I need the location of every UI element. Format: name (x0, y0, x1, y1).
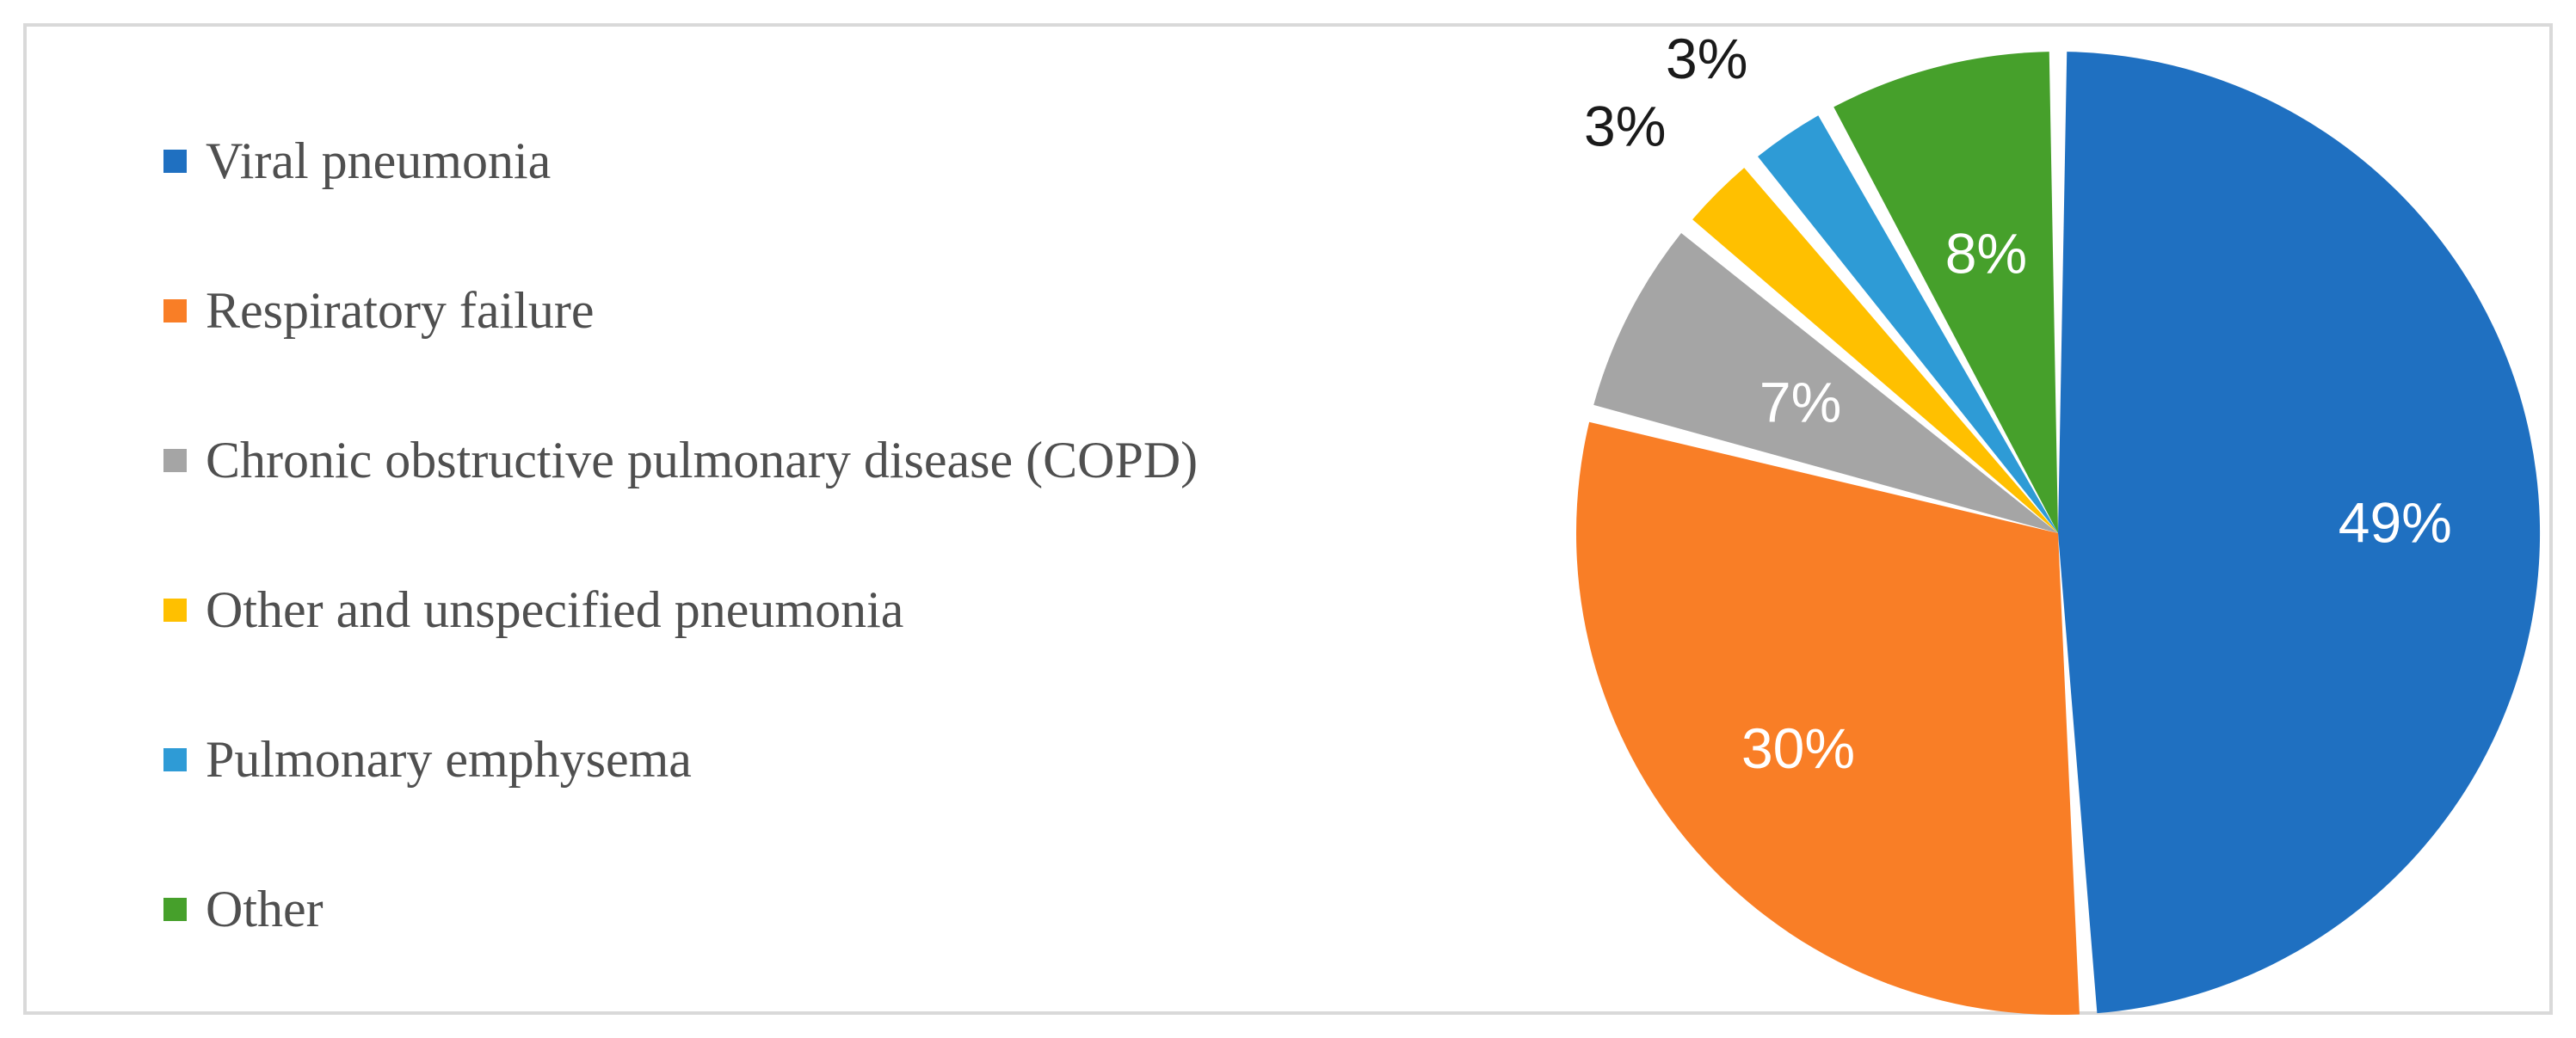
legend-item[interactable]: Viral pneumonia (163, 86, 1471, 236)
pie-slice-label: 49% (2339, 491, 2452, 555)
pie-slice-label: 30% (1741, 716, 1855, 780)
legend-item-label: Pulmonary emphysema (206, 733, 692, 787)
pie-slice[interactable] (2058, 52, 2540, 1013)
pie-slice-label: 3% (1666, 27, 1747, 90)
pie-chart-svg: 49%30%7%3%3%8% (1540, 0, 2576, 1038)
legend-item[interactable]: Other (163, 834, 1471, 984)
legend-swatch-pulmonary-emphysema (163, 748, 187, 771)
legend-swatch-other-unspecified-pneumonia (163, 599, 187, 622)
legend-swatch-other (163, 898, 187, 921)
legend-swatch-copd (163, 449, 187, 472)
legend-item-label: Viral pneumonia (206, 134, 551, 188)
pie-chart-area: 49%30%7%3%3%8% (1540, 0, 2576, 1038)
legend-item[interactable]: Respiratory failure (163, 236, 1471, 385)
legend-item[interactable]: Chronic obstructive pulmonary disease (C… (163, 385, 1471, 535)
legend-item-label: Chronic obstructive pulmonary disease (C… (206, 433, 1198, 488)
legend-item[interactable]: Pulmonary emphysema (163, 685, 1471, 834)
pie-chart-figure: Viral pneumoniaRespiratory failureChroni… (0, 0, 2576, 1038)
chart-legend: Viral pneumoniaRespiratory failureChroni… (163, 86, 1471, 984)
pie-slice-label: 3% (1584, 95, 1666, 158)
legend-item-label: Respiratory failure (206, 284, 595, 338)
legend-item-label: Other and unspecified pneumonia (206, 583, 903, 637)
legend-swatch-respiratory-failure (163, 299, 187, 322)
pie-slice-label: 7% (1759, 371, 1841, 434)
legend-item[interactable]: Other and unspecified pneumonia (163, 535, 1471, 685)
legend-item-label: Other (206, 882, 324, 937)
pie-slice-label: 8% (1945, 222, 2027, 286)
legend-swatch-viral-pneumonia (163, 150, 187, 173)
